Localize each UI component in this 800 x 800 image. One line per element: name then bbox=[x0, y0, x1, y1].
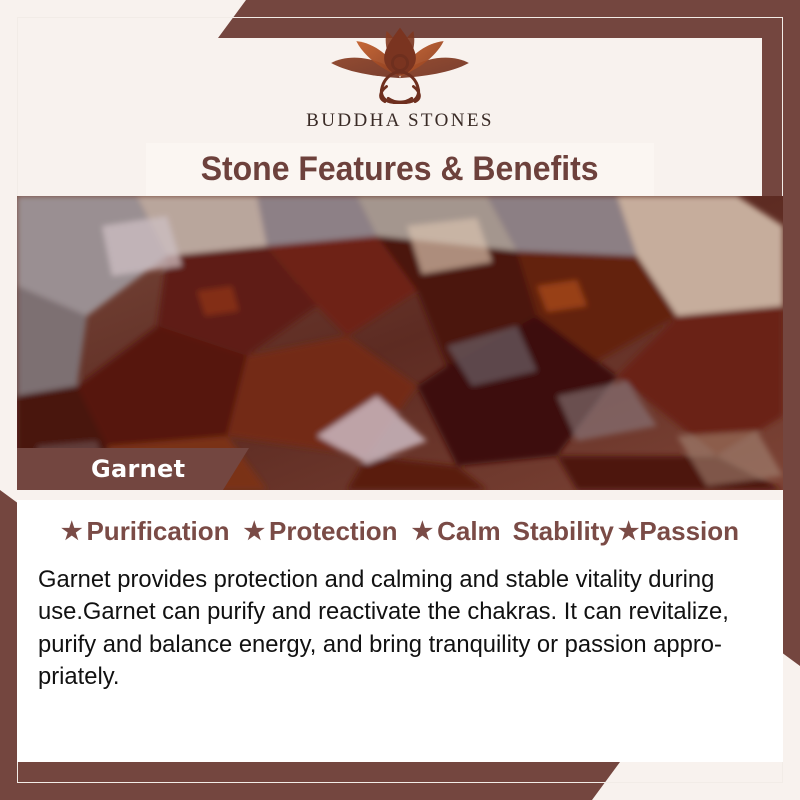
content-card: ★ Purification ★ Protection ★ Calm Stabi… bbox=[17, 490, 783, 762]
stone-name-banner: Garnet bbox=[17, 448, 249, 490]
stone-name: Garnet bbox=[91, 455, 185, 483]
stone-description: Garnet provides protection and calming a… bbox=[38, 564, 740, 693]
garnet-crystal-cluster-photo bbox=[17, 196, 783, 490]
card-top-strip bbox=[17, 490, 783, 500]
feature-label: Calm bbox=[437, 516, 501, 547]
feature-label: Protection bbox=[269, 516, 398, 547]
feature-list: ★ Purification ★ Protection ★ Calm Stabi… bbox=[17, 516, 783, 547]
star-icon: ★ bbox=[412, 520, 434, 544]
feature-item-passion: ★ Passion bbox=[618, 516, 739, 547]
star-icon: ★ bbox=[618, 520, 640, 544]
star-icon: ★ bbox=[243, 520, 265, 544]
star-icon: ★ bbox=[61, 520, 83, 544]
poster-root: BUDDHA STONES Stone Features & Benefits bbox=[0, 0, 800, 800]
feature-label: Stability bbox=[513, 516, 614, 547]
brand-name: BUDDHA STONES bbox=[306, 110, 494, 132]
feature-label: Passion bbox=[639, 516, 739, 547]
page-title: Stone Features & Benefits bbox=[201, 150, 599, 189]
feature-item-protection: ★ Protection bbox=[243, 516, 397, 547]
feature-item-purification: ★ Purification bbox=[61, 516, 230, 547]
frame-band-bottom bbox=[0, 762, 620, 800]
brand-header: BUDDHA STONES bbox=[0, 0, 800, 148]
title-band: Stone Features & Benefits bbox=[146, 143, 654, 196]
lotus-meditation-icon bbox=[316, 26, 484, 108]
feature-item-stability: Stability bbox=[513, 516, 614, 547]
feature-label: Purification bbox=[86, 516, 229, 547]
feature-item-calm: ★ Calm bbox=[412, 516, 501, 547]
